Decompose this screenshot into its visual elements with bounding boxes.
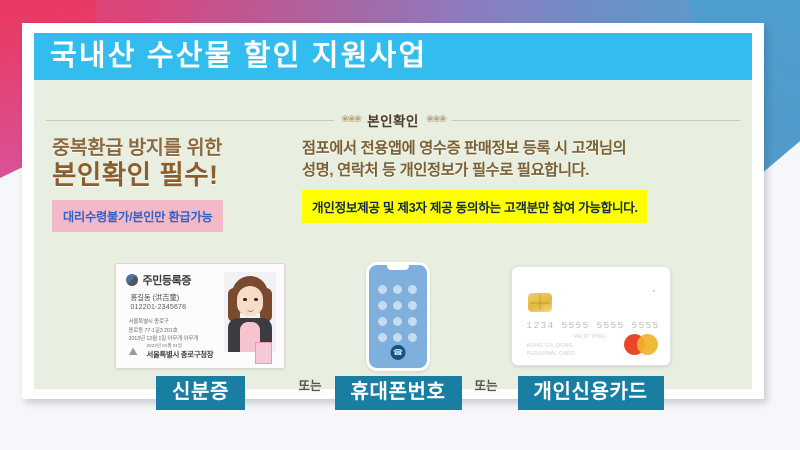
credit-card-illustration: ◔ 1234 5555 5555 5555 VALID THRU HONG GI… [511, 266, 671, 366]
content-panel: ❀❀❀ 본인확인 ❀❀❀ 중복환급 방지를 위한 본인확인 필수! 대리수령불가… [34, 80, 752, 389]
keypad-key [408, 317, 417, 326]
body-text-line-2: 성명, 연락처 등 개인정보가 필수로 필요합니다. [302, 160, 738, 182]
verification-options-row: 주민등록증 홍길동 (洪吉童) 012201-2345678 서울특별시 종로구… [34, 262, 752, 410]
slide-title-bar: 국내산 수산물 할인 지원사업 [34, 33, 752, 80]
ornament-right-icon: ❀❀❀ [426, 115, 445, 125]
card-logo-circle-yellow [637, 334, 658, 355]
emv-chip-icon [528, 293, 552, 312]
credit-card-holder: HONG GIL DONG PERSONAL CARD [527, 342, 576, 359]
id-card-title-row: 주민등록증 [126, 272, 191, 288]
keypad-key [393, 333, 402, 342]
keypad-key [393, 317, 402, 326]
headline-big: 본인확인 필수! [52, 160, 298, 191]
card-network-logo-icon [624, 334, 658, 355]
keypad-key [408, 301, 417, 310]
id-card-address-line-2: 종로동 77-1길3 201호 [128, 327, 220, 336]
government-emblem-icon: ⛰ [128, 347, 141, 361]
keypad-key [378, 285, 387, 294]
page-title: 국내산 수산물 할인 지원사업 [50, 42, 427, 71]
keypad-key [378, 317, 387, 326]
mobile-phone-art: ☎ [366, 262, 430, 370]
id-card-number: 012201-2345678 [130, 304, 186, 311]
left-column: 중복환급 방지를 위한 본인확인 필수! 대리수령불가/본인만 환급가능 [34, 138, 298, 232]
right-column: 점포에서 전용앱에 영수증 판매정보 등록 시 고객님의 성명, 연락처 등 개… [298, 138, 752, 223]
contactless-icon: ◔ [647, 287, 657, 293]
option-credit-card: ◔ 1234 5555 5555 5555 VALID THRU HONG GI… [511, 262, 671, 410]
id-card-address-line-1: 서울특별시 종로구 [128, 318, 220, 327]
id-card-address: 서울특별시 종로구 종로동 77-1길3 201호 2013년 12월 1일 아… [128, 318, 220, 344]
credit-card-holder-line-1: HONG GIL DONG [527, 342, 576, 350]
headline-columns: 중복환급 방지를 위한 본인확인 필수! 대리수령불가/본인만 환급가능 점포에… [34, 138, 752, 232]
yellow-note-badge: 개인정보제공 및 제3자 제공 동의하는 고객분만 참여 가능합니다. [302, 190, 647, 223]
section-divider-label: 본인확인 [367, 110, 419, 130]
option-mobile-phone: ☎ 휴대폰번호 [335, 262, 462, 410]
id-card-name: 홍길동 (洪吉童) [130, 292, 178, 303]
keypad-key [393, 301, 402, 310]
id-card-art: 주민등록증 홍길동 (洪吉童) 012201-2345678 서울특별시 종로구… [115, 262, 285, 370]
ornament-left-icon: ❀❀❀ [341, 115, 360, 125]
slide-card: 국내산 수산물 할인 지원사업 ❀❀❀ 본인확인 ❀❀❀ 중복환급 방지를 위한… [22, 23, 764, 399]
divider-line-left [46, 120, 334, 121]
id-card-title: 주민등록증 [142, 272, 191, 288]
credit-card-number: 1234 5555 5555 5555 [527, 320, 660, 331]
keypad-key [408, 333, 417, 342]
keypad-key [393, 285, 402, 294]
headline-small: 중복환급 방지를 위한 [52, 138, 298, 159]
option-label-mobile-phone: 휴대폰번호 [335, 376, 462, 410]
option-id-card: 주민등록증 홍길동 (洪吉童) 012201-2345678 서울특별시 종로구… [115, 262, 285, 410]
option-label-id-card: 신분증 [156, 376, 245, 410]
id-card-illustration: 주민등록증 홍길동 (洪吉童) 012201-2345678 서울특별시 종로구… [115, 263, 285, 369]
keypad-key [378, 333, 387, 342]
divider-line-right [452, 120, 740, 121]
keypad-key [378, 301, 387, 310]
phone-call-icon: ☎ [391, 345, 406, 360]
section-divider: ❀❀❀ 본인확인 ❀❀❀ [34, 110, 752, 130]
keypad-key [408, 285, 417, 294]
option-label-credit-card: 개인신용카드 [518, 376, 664, 410]
option-separator-2: 또는 [462, 375, 511, 410]
phone-notch [387, 265, 409, 270]
id-card-portrait-photo [224, 272, 276, 352]
option-separator-1: 또는 [285, 375, 334, 410]
credit-card-holder-line-2: PERSONAL CARD [527, 350, 576, 358]
body-text-line-1: 점포에서 전용앱에 영수증 판매정보 등록 시 고객님의 [302, 138, 738, 160]
credit-card-art: ◔ 1234 5555 5555 5555 VALID THRU HONG GI… [511, 262, 671, 370]
phone-keypad [378, 285, 418, 342]
credit-card-valid-label: VALID THRU [574, 334, 606, 340]
id-card-official-stamp [255, 342, 272, 364]
pink-note-badge: 대리수령불가/본인만 환급가능 [52, 200, 223, 232]
id-card-issuer: 서울특별시 종로구청장 [146, 349, 213, 360]
smartphone-icon: ☎ [366, 262, 430, 371]
taegeuk-icon [126, 274, 138, 286]
